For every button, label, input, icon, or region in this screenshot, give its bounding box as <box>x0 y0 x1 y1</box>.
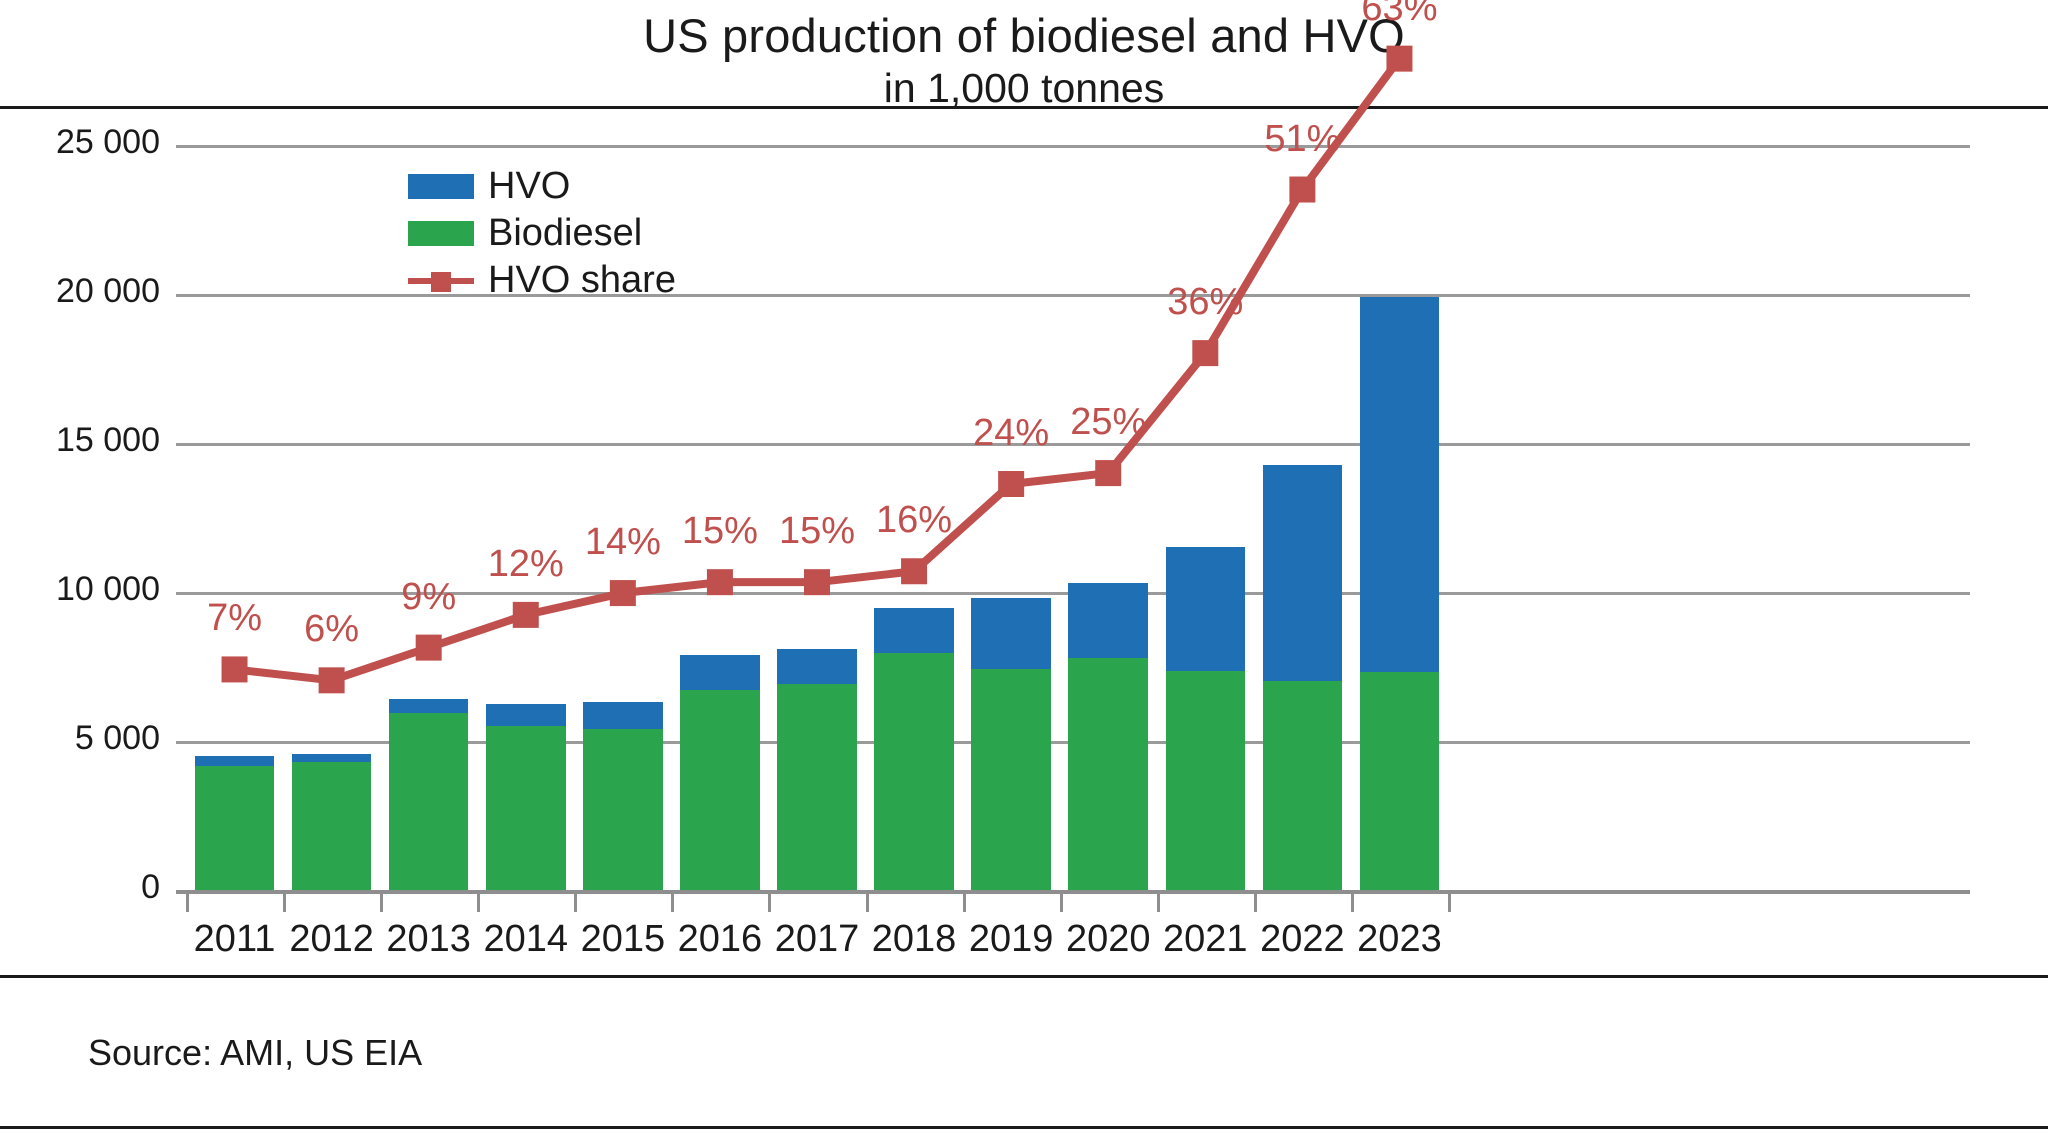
legend: HVOBiodieselHVO share <box>408 163 828 304</box>
bar-segment-biodiesel <box>1166 671 1246 890</box>
page-title: US production of biodiesel and HVO <box>0 8 2048 63</box>
bar-segment-hvo <box>680 655 760 691</box>
bar-segment-biodiesel <box>874 653 954 890</box>
rule-middle <box>0 975 2048 978</box>
x-axis-tick-mark <box>963 890 966 912</box>
legend-color-swatch <box>408 221 474 246</box>
chart-page: US production of biodiesel and HVO in 1,… <box>0 0 2048 1134</box>
share-value-label: 51% <box>1202 118 1402 161</box>
share-value-label: 25% <box>1008 401 1208 444</box>
y-axis-tick-label: 15 000 <box>0 421 160 460</box>
x-axis-tick-mark <box>1448 890 1451 912</box>
bar-segment-hvo <box>1263 465 1343 681</box>
bar-segment-hvo <box>389 699 469 712</box>
legend-item-hvo[interactable]: HVO <box>408 163 828 209</box>
rule-bottom <box>0 1126 2048 1129</box>
bar-segment-biodiesel <box>292 762 372 890</box>
source-note: Source: AMI, US EIA <box>88 1032 422 1074</box>
bar-segment-hvo <box>777 649 857 685</box>
bar-segment-biodiesel <box>777 684 857 890</box>
bar-segment-biodiesel <box>1068 658 1148 890</box>
title-block: US production of biodiesel and HVO in 1,… <box>0 8 2048 115</box>
x-axis-line <box>176 890 1970 894</box>
x-axis-tick-mark <box>1254 890 1257 912</box>
x-axis-tick-mark <box>1060 890 1063 912</box>
bar-segment-biodiesel <box>195 766 275 890</box>
legend-square-marker-icon <box>431 272 451 292</box>
y-axis-tick-label: 5 000 <box>0 719 160 758</box>
bar-segment-biodiesel <box>389 713 469 890</box>
x-axis-tick-mark <box>1351 890 1354 912</box>
bar-segment-hvo <box>971 598 1051 670</box>
bar-segment-biodiesel <box>1360 672 1440 890</box>
x-axis-tick-mark <box>768 890 771 912</box>
bar-segment-hvo <box>292 754 372 761</box>
x-axis-tick-mark <box>283 890 286 912</box>
bar-segment-hvo <box>195 756 275 766</box>
legend-item-label: HVO <box>488 167 570 205</box>
share-value-label: 16% <box>814 499 1014 542</box>
bar-segment-hvo <box>583 702 663 729</box>
bar-segment-hvo <box>1166 547 1246 671</box>
x-axis-tick-mark <box>671 890 674 912</box>
rule-top <box>0 106 2048 109</box>
legend-item-label: Biodiesel <box>488 214 642 252</box>
x-axis-tick-mark <box>477 890 480 912</box>
x-axis-tick-label: 2023 <box>1309 918 1489 961</box>
share-value-label: 63% <box>1299 0 1499 30</box>
y-axis-tick-label: 20 000 <box>0 272 160 311</box>
x-axis-tick-mark <box>380 890 383 912</box>
x-axis-tick-mark <box>866 890 869 912</box>
legend-color-swatch <box>408 174 474 199</box>
bar-segment-hvo <box>1360 297 1440 672</box>
legend-item-biodiesel[interactable]: Biodiesel <box>408 210 828 256</box>
legend-line-swatch <box>408 268 474 293</box>
bar-segment-biodiesel <box>1263 681 1343 890</box>
y-axis-tick-label: 25 000 <box>0 123 160 162</box>
legend-item-hvo-share[interactable]: HVO share <box>408 257 828 303</box>
y-axis-tick-label: 0 <box>0 868 160 907</box>
bar-segment-biodiesel <box>486 726 566 890</box>
bar-segment-hvo <box>874 608 954 653</box>
x-axis-tick-mark <box>186 890 189 912</box>
bar-segment-hvo <box>1068 583 1148 658</box>
bar-segment-biodiesel <box>680 690 760 890</box>
bar-segment-biodiesel <box>971 669 1051 890</box>
bar-segment-biodiesel <box>583 729 663 890</box>
x-axis-tick-mark <box>574 890 577 912</box>
share-value-label: 36% <box>1105 281 1305 324</box>
gridline <box>176 145 1970 148</box>
legend-item-label: HVO share <box>488 261 676 299</box>
x-axis-tick-mark <box>1157 890 1160 912</box>
bar-segment-hvo <box>486 704 566 726</box>
